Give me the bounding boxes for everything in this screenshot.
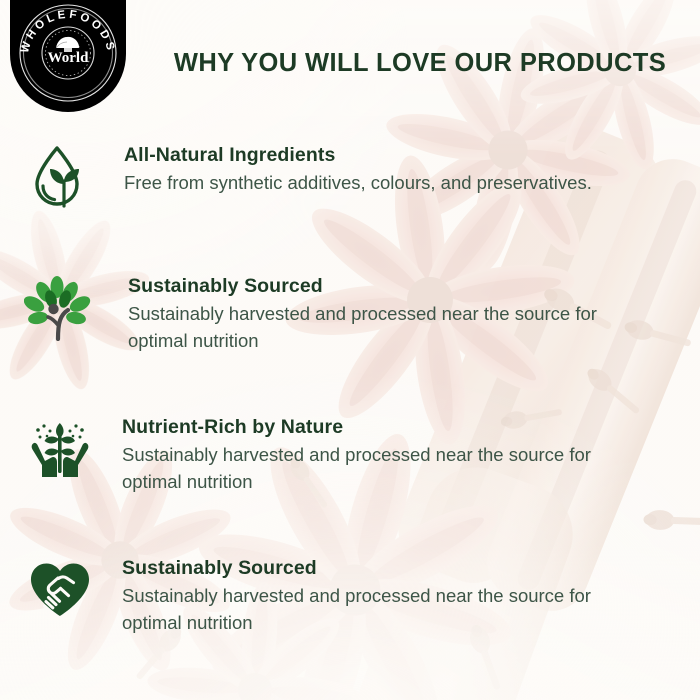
logo-center-text: World: [48, 50, 89, 66]
promo-graphic: WHOLEFOODS World WHY YOU WILL LOVE OUR P…: [0, 0, 700, 700]
feature-text: Sustainably Sourced Sustainably harveste…: [128, 272, 700, 354]
water-drop-leaf-icon: [26, 141, 98, 213]
feature-text: Sustainably Sourced Sustainably harveste…: [122, 554, 700, 636]
hands-holding-plant-icon: [24, 413, 96, 485]
wholefoods-world-logo[interactable]: WHOLEFOODS World: [10, 0, 126, 112]
feature-item: Sustainably Sourced Sustainably harveste…: [0, 272, 700, 354]
feature-description: Sustainably harvested and processed near…: [122, 583, 642, 636]
feature-title: Sustainably Sourced: [128, 274, 700, 298]
feature-item: Nutrient-Rich by Nature Sustainably harv…: [0, 413, 700, 495]
feature-title: All-Natural Ingredients: [124, 143, 700, 167]
page-title: WHY YOU WILL LOVE OUR PRODUCTS: [150, 48, 690, 79]
feature-text: All-Natural Ingredients Free from synthe…: [124, 141, 700, 197]
feature-description: Sustainably harvested and processed near…: [122, 442, 642, 495]
feature-item: Sustainably Sourced Sustainably harveste…: [0, 554, 700, 636]
heart-handshake-icon: [24, 554, 96, 626]
feature-title: Nutrient-Rich by Nature: [122, 415, 700, 439]
tree-person-leaves-icon: [22, 272, 94, 344]
feature-text: Nutrient-Rich by Nature Sustainably harv…: [122, 413, 700, 495]
feature-description: Free from synthetic additives, colours, …: [124, 170, 644, 196]
feature-title: Sustainably Sourced: [122, 556, 700, 580]
feature-description: Sustainably harvested and processed near…: [128, 301, 648, 354]
feature-item: All-Natural Ingredients Free from synthe…: [0, 141, 700, 213]
